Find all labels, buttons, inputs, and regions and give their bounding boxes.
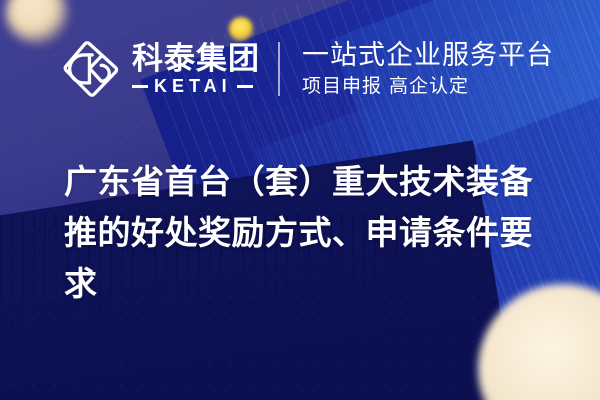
brand-name-cn: 科泰集团 — [132, 43, 260, 75]
brand-name-en: KETAI — [148, 77, 237, 95]
ketai-diamond-k-logo-icon — [60, 38, 122, 100]
brand-logo: 科泰集团 KETAI — [60, 38, 260, 100]
header-divider — [278, 42, 280, 96]
brand-name-en-row: KETAI — [132, 77, 260, 95]
wordmark-rule-right-icon — [237, 85, 253, 88]
banner-header: 科泰集团 KETAI 一站式企业服务平台 项目申报 高企认定 — [60, 38, 554, 100]
banner-headline: 广东省首台（套）重大技术装备推的好处奖励方式、申请条件要求 — [64, 156, 544, 309]
brand-tagline: 一站式企业服务平台 项目申报 高企认定 — [302, 40, 554, 98]
tagline-primary: 一站式企业服务平台 — [302, 40, 554, 71]
wordmark-rule-left-icon — [132, 85, 148, 88]
promo-banner: 科泰集团 KETAI 一站式企业服务平台 项目申报 高企认定 广东省首台（套）重… — [0, 0, 600, 400]
brand-logo-wordmark: 科泰集团 KETAI — [132, 43, 260, 95]
tagline-secondary: 项目申报 高企认定 — [302, 74, 554, 98]
